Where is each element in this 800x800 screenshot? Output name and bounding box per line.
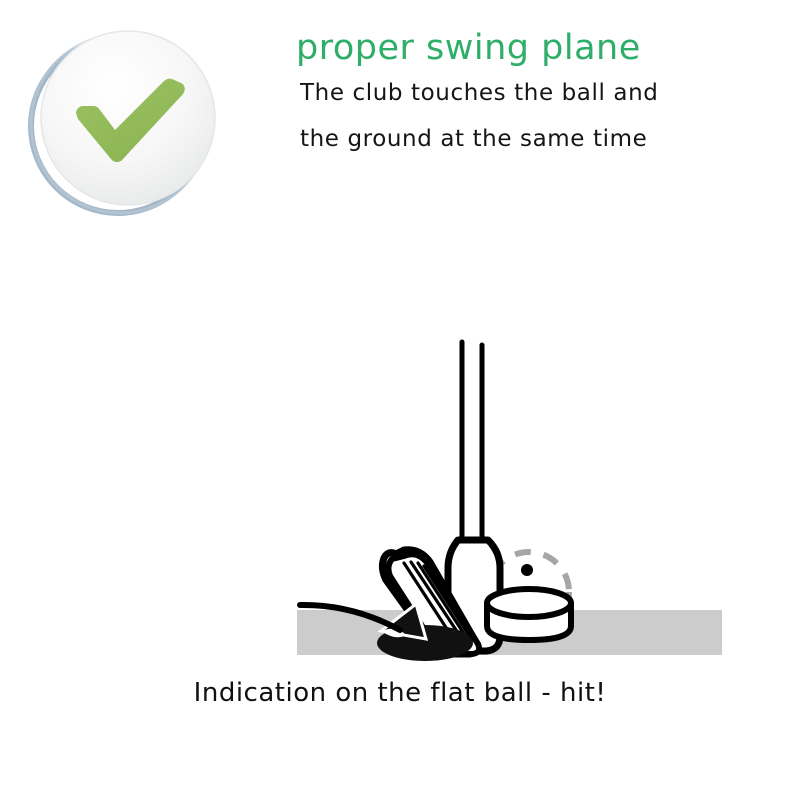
check-badge-svg	[26, 18, 226, 223]
golf-club-striking-flat-ball-diagram	[0, 300, 800, 690]
illustration-svg	[0, 300, 800, 690]
flat-ball	[487, 589, 571, 640]
header-section: proper swing plane The club touches the …	[0, 0, 800, 250]
ball-center-dot	[521, 564, 533, 576]
subtitle-line-2: the ground at the same time	[296, 116, 756, 162]
header-text-block: proper swing plane The club touches the …	[296, 26, 756, 162]
page-root: proper swing plane The club touches the …	[0, 0, 800, 800]
green-check-circle-icon	[26, 18, 226, 223]
subtitle-line-1: The club touches the ball and	[296, 70, 756, 116]
page-title: proper swing plane	[296, 26, 756, 70]
caption-text: Indication on the flat ball - hit!	[0, 676, 800, 710]
club-shaft	[452, 342, 492, 558]
